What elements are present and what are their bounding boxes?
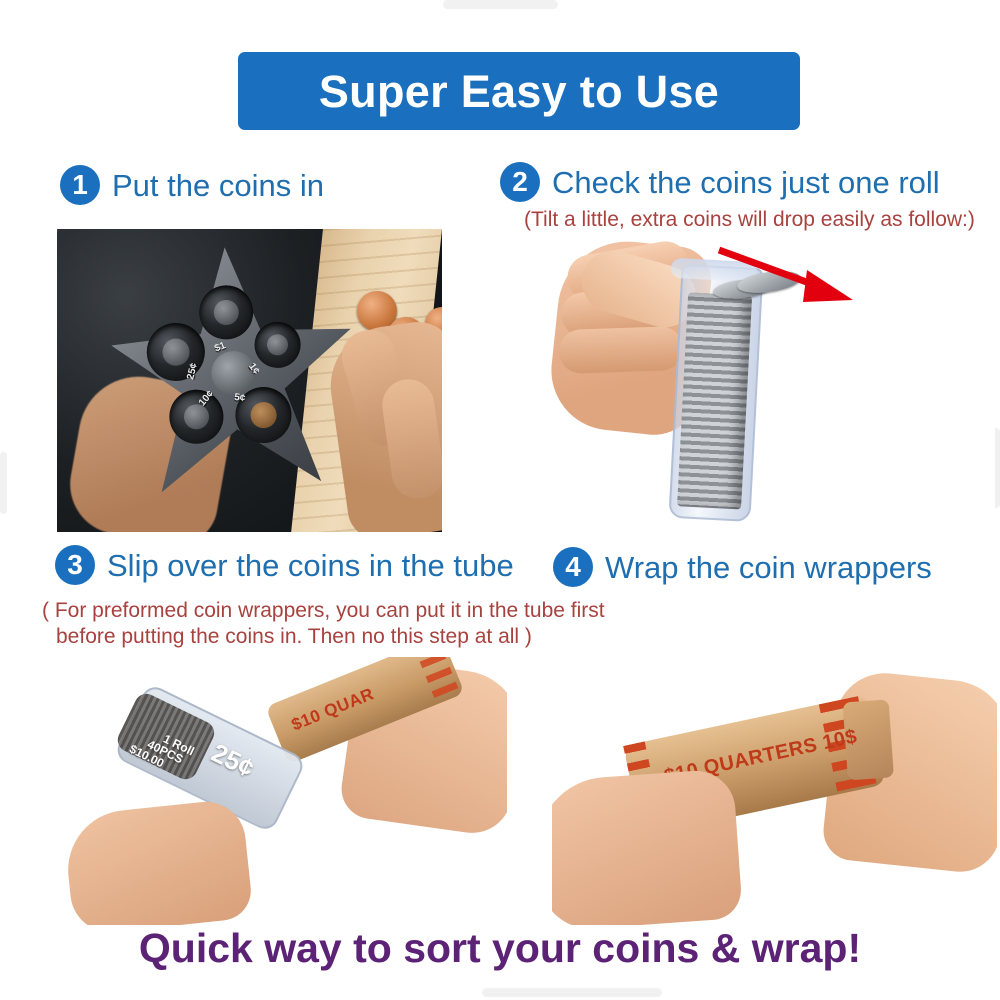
coin-sorter-tool: 25¢ $1 1¢ 5¢ 10¢ <box>100 239 368 524</box>
denom-label-nickel: 5¢ <box>233 392 246 404</box>
left-hand <box>62 798 254 925</box>
denom-label-penny: 1¢ <box>246 361 261 376</box>
red-arrow-icon <box>715 244 865 308</box>
step-3-note-line-1: ( For preformed coin wrappers, you can p… <box>42 598 605 624</box>
denom-label-quarter: 25¢ <box>185 362 200 381</box>
left-hand <box>552 768 743 925</box>
step-3-heading: 3 Slip over the coins in the tube <box>55 545 514 585</box>
bottom-scrollbar-artifact[interactable] <box>482 988 662 997</box>
step-1-photo: 25¢ $1 1¢ 5¢ 10¢ <box>57 229 442 532</box>
step-1-title: Put the coins in <box>112 170 324 201</box>
banner-title: Super Easy to Use <box>319 69 719 114</box>
step-1-number-badge: 1 <box>60 165 100 205</box>
stacked-quarters <box>677 292 752 509</box>
step-2-heading: 2 Check the coins just one roll <box>500 162 940 202</box>
step-2-photo <box>545 236 995 534</box>
footer-tagline: Quick way to sort your coins & wrap! <box>0 928 1000 969</box>
step-3-note: ( For preformed coin wrappers, you can p… <box>42 598 605 649</box>
step-3-number-badge: 3 <box>55 545 95 585</box>
sorter-denomination-labels: 25¢ $1 1¢ 5¢ 10¢ <box>184 336 283 416</box>
step-4-heading: 4 Wrap the coin wrappers <box>553 547 932 587</box>
finger <box>558 326 683 374</box>
step-1-heading: 1 Put the coins in <box>60 165 324 205</box>
step-2-number-badge: 2 <box>500 162 540 202</box>
step-3-photo: $10 QUAR 25¢ 1 Roll 40PCS $10.00 <box>62 657 507 925</box>
header-banner: Super Easy to Use <box>238 52 800 130</box>
infographic-page: Super Easy to Use 1 Put the coins in 2 <box>0 0 1000 1000</box>
step-4-title: Wrap the coin wrappers <box>605 552 932 583</box>
step-4-photo: $10 QUARTERS 10$ <box>552 657 997 925</box>
step-2-note: (Tilt a little, extra coins will drop ea… <box>524 207 975 233</box>
denom-label-dollar: $1 <box>213 340 227 354</box>
step-4-number-badge: 4 <box>553 547 593 587</box>
denom-label-dime: 10¢ <box>197 389 216 409</box>
wrapper-text: $10 QUAR <box>289 684 377 735</box>
step-3-title: Slip over the coins in the tube <box>107 550 514 581</box>
step-3-note-line-2: before putting the coins in. Then no thi… <box>42 624 605 650</box>
left-scrollbar-artifact[interactable] <box>0 452 7 514</box>
tube-label-denomination: 25¢ <box>206 737 259 784</box>
top-scrollbar-artifact[interactable] <box>443 0 558 9</box>
step-2-title: Check the coins just one roll <box>552 167 940 198</box>
